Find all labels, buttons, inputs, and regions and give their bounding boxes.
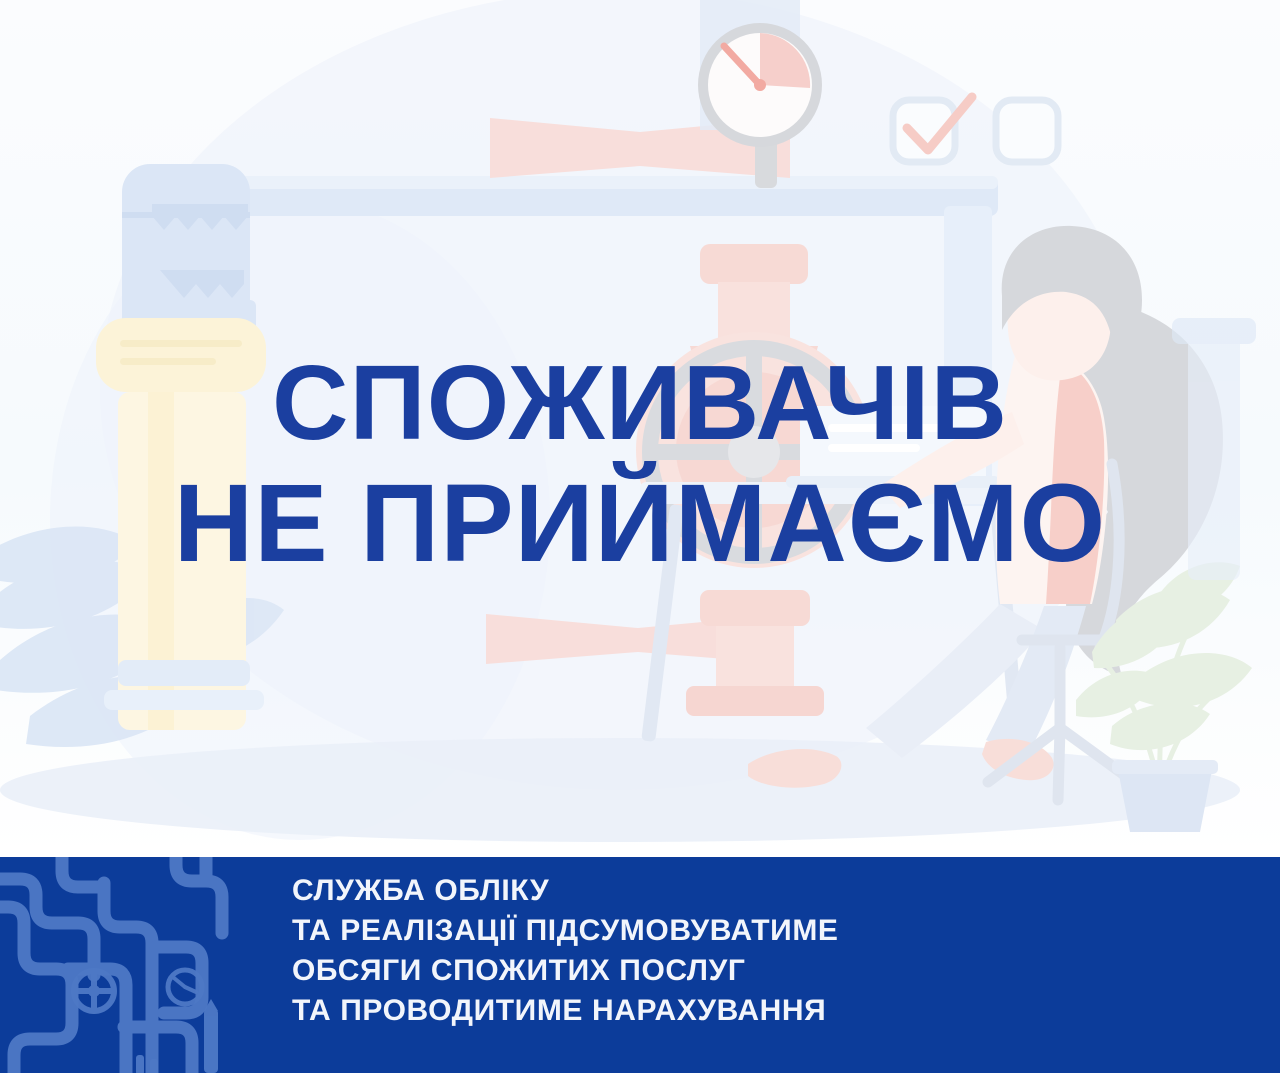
- illustration-stage: [0, 0, 1280, 857]
- banner-line-4: ТА ПРОВОДИТИМЕ НАРАХУВАННЯ: [292, 991, 1082, 1031]
- valve-wheel-icon: [74, 971, 114, 1011]
- bottom-banner: СЛУЖБА ОБЛІКУ ТА РЕАЛІЗАЦІЇ ПІДСУМОВУВАТ…: [0, 857, 1280, 1073]
- checkbox-empty-icon[interactable]: [996, 100, 1058, 162]
- hydrant-icon: [204, 999, 218, 1073]
- banner-line-3: ОБСЯГИ СПОЖИТИХ ПОСЛУГ: [292, 951, 1082, 991]
- banner-text-block: СЛУЖБА ОБЛІКУ ТА РЕАЛІЗАЦІЇ ПІДСУМОВУВАТ…: [292, 871, 1082, 1031]
- poster: СПОЖИВАЧІВ НЕ ПРИЙМАЄМО: [0, 0, 1280, 1073]
- banner-pipe-pattern: [0, 857, 250, 1073]
- banner-line-1: СЛУЖБА ОБЛІКУ: [292, 871, 1082, 911]
- banner-line-2: ТА РЕАЛІЗАЦІЇ ПІДСУМОВУВАТИМЕ: [292, 911, 1082, 951]
